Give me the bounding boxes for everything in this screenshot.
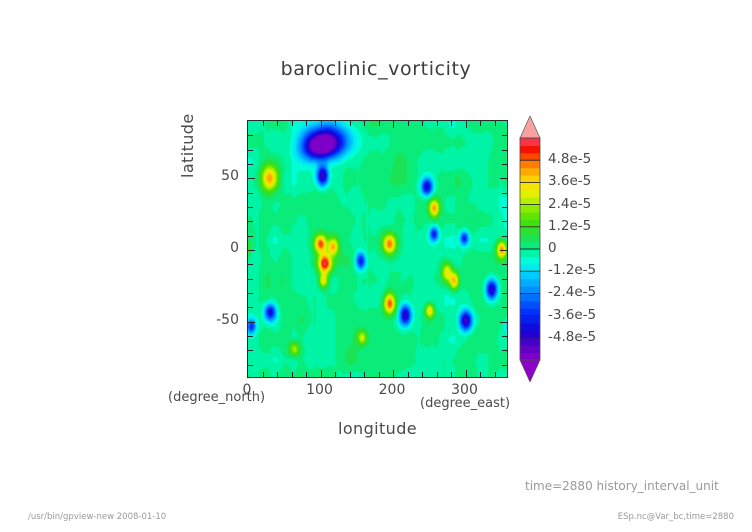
colorbar (519, 116, 541, 382)
tick-mark (248, 293, 253, 294)
y-tick-label: 50 (191, 168, 239, 184)
tick-mark (277, 372, 278, 377)
colorbar-label: -4.8e-5 (548, 329, 596, 345)
y-axis-title: latitude (178, 113, 197, 178)
tick-mark (379, 372, 380, 377)
tick-mark (437, 372, 438, 377)
colorbar-label: -1.2e-5 (548, 262, 596, 278)
tick-mark (422, 372, 423, 377)
colorbar-gradient (519, 116, 541, 382)
tick-mark (495, 121, 496, 126)
tick-mark (248, 236, 253, 237)
tick-mark (502, 365, 507, 366)
tick-mark (502, 164, 507, 165)
colorbar-label: 4.8e-5 (548, 151, 591, 167)
x-tick-label: 100 (290, 382, 350, 398)
tick-mark (502, 236, 507, 237)
y-tick-label: 0 (191, 240, 239, 256)
y-tick-label: -50 (191, 312, 239, 328)
tick-mark (263, 372, 264, 377)
tick-mark (500, 178, 507, 179)
tick-mark (364, 372, 365, 377)
tick-mark (321, 370, 322, 377)
tick-mark (248, 350, 253, 351)
tick-mark (393, 121, 394, 128)
tick-mark (502, 193, 507, 194)
tick-mark (502, 135, 507, 136)
x-axis-title: longitude (247, 419, 508, 438)
tick-mark (451, 372, 452, 377)
tick-mark (500, 250, 507, 251)
page-title: baroclinic_vorticity (0, 58, 752, 80)
tick-mark (502, 150, 507, 151)
tick-mark (335, 372, 336, 377)
tick-mark (408, 372, 409, 377)
tick-mark (292, 372, 293, 377)
tick-mark (277, 121, 278, 126)
tick-mark (248, 336, 253, 337)
tick-mark (480, 121, 481, 126)
tick-mark (248, 221, 253, 222)
tick-mark (502, 336, 507, 337)
tick-mark (495, 372, 496, 377)
tick-mark (451, 121, 452, 126)
tick-mark (306, 372, 307, 377)
tick-mark (422, 121, 423, 126)
tick-mark (321, 121, 322, 128)
tick-mark (248, 365, 253, 366)
y-axis-unit: (degree_north) (168, 390, 265, 405)
colorbar-label: 1.2e-5 (548, 218, 591, 234)
tick-mark (502, 207, 507, 208)
tick-mark (502, 221, 507, 222)
colorbar-label: 3.6e-5 (548, 173, 591, 189)
tick-mark (248, 178, 255, 179)
x-axis-unit: (degree_east) (420, 396, 510, 411)
tick-mark (248, 250, 255, 251)
tick-mark (502, 279, 507, 280)
tick-mark (248, 135, 253, 136)
tick-mark (466, 121, 467, 128)
tick-mark (248, 150, 253, 151)
plot-canvas: baroclinic_vorticity 0100200300 500-50 l… (0, 0, 752, 532)
tick-mark (248, 207, 253, 208)
footer-source: ESp.nc@Var_bc,time=2880 (618, 512, 734, 522)
tick-mark (379, 121, 380, 126)
tick-mark (248, 264, 253, 265)
tick-mark (502, 307, 507, 308)
colorbar-label: -3.6e-5 (548, 307, 596, 323)
tick-mark (248, 322, 255, 323)
tick-mark (364, 121, 365, 126)
tick-mark (437, 121, 438, 126)
footer-command: /usr/bin/gpview-new 2008-01-10 (28, 512, 166, 522)
x-tick-label: 200 (362, 382, 422, 398)
tick-mark (502, 264, 507, 265)
tick-mark (466, 370, 467, 377)
tick-mark (480, 372, 481, 377)
tick-mark (350, 121, 351, 126)
colorbar-label: 2.4e-5 (548, 196, 591, 212)
tick-mark (502, 350, 507, 351)
tick-mark (350, 372, 351, 377)
tick-mark (393, 370, 394, 377)
tick-mark (306, 121, 307, 126)
tick-mark (292, 121, 293, 126)
tick-mark (248, 279, 253, 280)
tick-mark (502, 293, 507, 294)
colorbar-label: -2.4e-5 (548, 284, 596, 300)
plot-area (247, 120, 508, 378)
tick-mark (335, 121, 336, 126)
tick-mark (500, 322, 507, 323)
tick-mark (408, 121, 409, 126)
tick-mark (248, 193, 253, 194)
tick-mark (263, 121, 264, 126)
colorbar-label: 0 (548, 240, 557, 256)
tick-mark (248, 307, 253, 308)
vorticity-field (248, 121, 507, 377)
tick-mark (248, 164, 253, 165)
time-annotation: time=2880 history_interval_unit (525, 479, 719, 493)
